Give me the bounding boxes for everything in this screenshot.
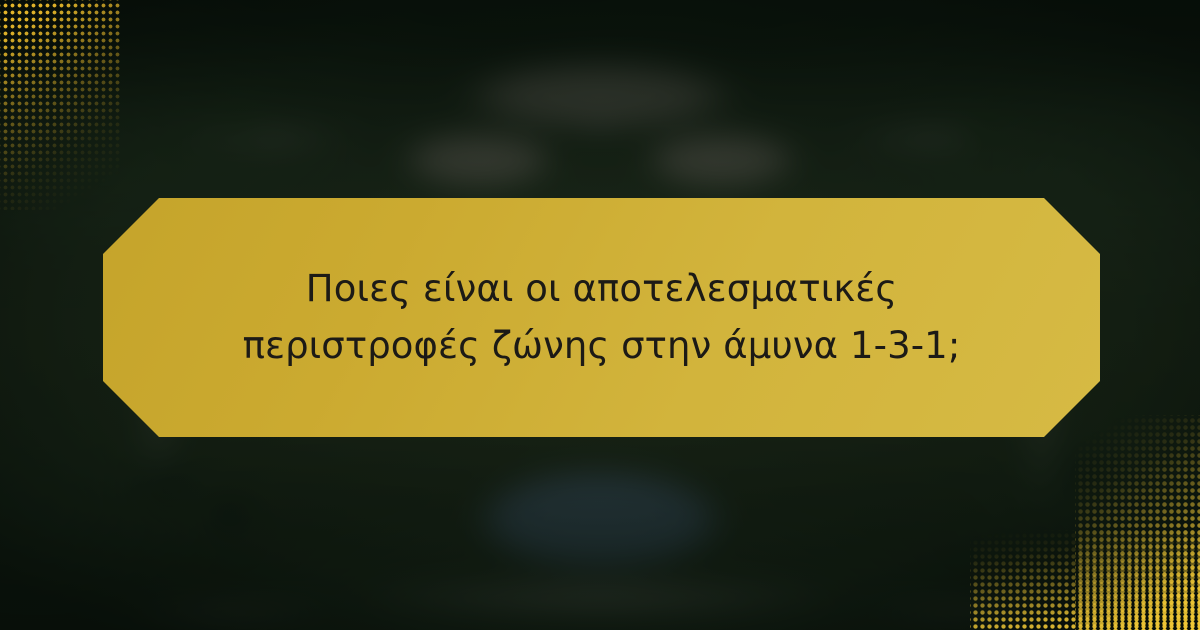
question-title: Ποιες είναι οι αποτελεσματικές περιστροφ… [132, 261, 1072, 373]
share-card: Ποιες είναι οι αποτελεσματικές περιστροφ… [0, 0, 1200, 630]
question-banner: Ποιες είναι οι αποτελεσματικές περιστροφ… [103, 198, 1100, 437]
